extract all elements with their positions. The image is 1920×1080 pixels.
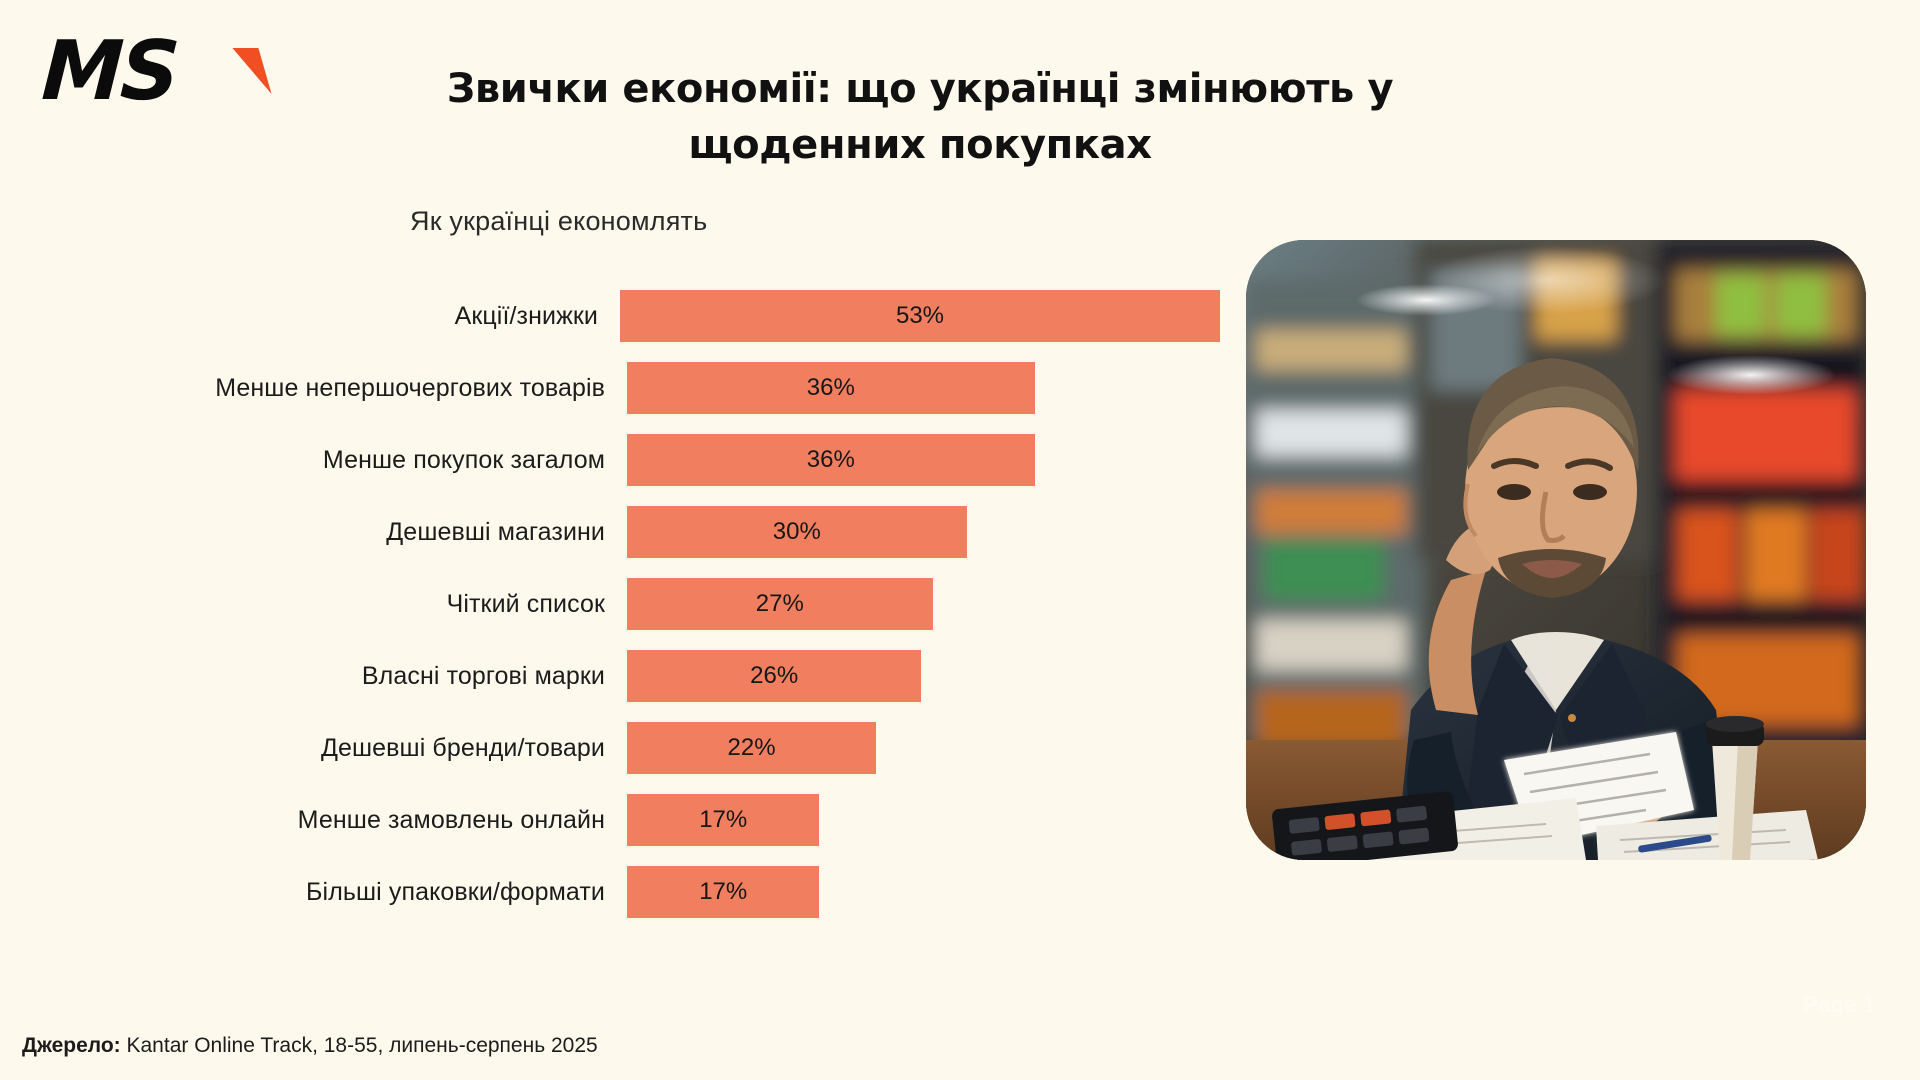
bar-row: Власні торгові марки26% <box>60 650 1220 702</box>
bar-value-label: 36% <box>807 374 855 402</box>
chart-subtitle: Як українці економлять <box>410 206 707 237</box>
bar-track: 27% <box>627 578 1220 630</box>
source-text: Kantar Online Track, 18-55, липень-серпе… <box>121 1034 598 1057</box>
bar-value-label: 26% <box>750 662 798 690</box>
bar-row: Дешевші бренди/товари22% <box>60 722 1220 774</box>
infographic-page: { "brand": { "logo_text": "MS", "logo_ma… <box>0 0 1920 1080</box>
apostrophe-mark-icon <box>232 48 271 94</box>
bar-fill: 36% <box>627 362 1035 414</box>
bar-track: 53% <box>620 290 1220 342</box>
bar-value-label: 17% <box>699 806 747 834</box>
page-title-line-2: щоденних покупках <box>330 117 1510 173</box>
bar-value-label: 30% <box>773 518 821 546</box>
bar-fill: 17% <box>627 866 819 918</box>
bar-row: Дешевші магазини30% <box>60 506 1220 558</box>
bar-fill: 17% <box>627 794 819 846</box>
hero-photo-illustration <box>1246 240 1866 860</box>
bar-row: Менше непершочергових товарів36% <box>60 362 1220 414</box>
bar-label: Більші упаковки/формати <box>60 878 627 907</box>
page-title: Звички економії: що українці змінюють у … <box>330 61 1510 173</box>
bar-value-label: 27% <box>756 590 804 618</box>
bar-row: Більші упаковки/формати17% <box>60 866 1220 918</box>
bar-row: Менше покупок загалом36% <box>60 434 1220 486</box>
bar-fill: 22% <box>627 722 876 774</box>
brand-logo: MS <box>42 28 272 116</box>
bar-fill: 53% <box>620 290 1220 342</box>
hero-photo <box>1246 240 1866 860</box>
logo-wordmark: MS <box>40 28 179 116</box>
bar-fill: 30% <box>627 506 967 558</box>
bar-label: Менше замовлень онлайн <box>60 806 627 835</box>
bar-track: 17% <box>627 794 1220 846</box>
source-note: Джерело: Kantar Online Track, 18-55, лип… <box>22 1034 598 1058</box>
bar-track: 17% <box>627 866 1220 918</box>
bar-value-label: 22% <box>728 734 776 762</box>
source-label: Джерело: <box>22 1034 121 1057</box>
bar-track: 36% <box>627 434 1220 486</box>
bar-track: 26% <box>627 650 1220 702</box>
bar-value-label: 53% <box>896 302 944 330</box>
bar-label: Чіткий список <box>60 590 627 619</box>
bar-label: Власні торгові марки <box>60 662 627 691</box>
bar-value-label: 17% <box>699 878 747 906</box>
bar-label: Дешевші бренди/товари <box>60 734 627 763</box>
bar-track: 30% <box>627 506 1220 558</box>
bar-label: Акції/знижки <box>60 302 620 331</box>
bar-track: 36% <box>627 362 1220 414</box>
bar-track: 22% <box>627 722 1220 774</box>
bar-row: Чіткий список27% <box>60 578 1220 630</box>
bar-chart: Акції/знижки53%Менше непершочергових тов… <box>60 290 1220 938</box>
page-watermark: Page 1 <box>1803 992 1876 1018</box>
bar-fill: 36% <box>627 434 1035 486</box>
bar-label: Менше покупок загалом <box>60 446 627 475</box>
bar-label: Менше непершочергових товарів <box>60 374 627 403</box>
bar-fill: 26% <box>627 650 921 702</box>
bar-row: Менше замовлень онлайн17% <box>60 794 1220 846</box>
bar-label: Дешевші магазини <box>60 518 627 547</box>
page-title-line-1: Звички економії: що українці змінюють у <box>330 61 1510 117</box>
bar-fill: 27% <box>627 578 933 630</box>
bar-row: Акції/знижки53% <box>60 290 1220 342</box>
bar-value-label: 36% <box>807 446 855 474</box>
